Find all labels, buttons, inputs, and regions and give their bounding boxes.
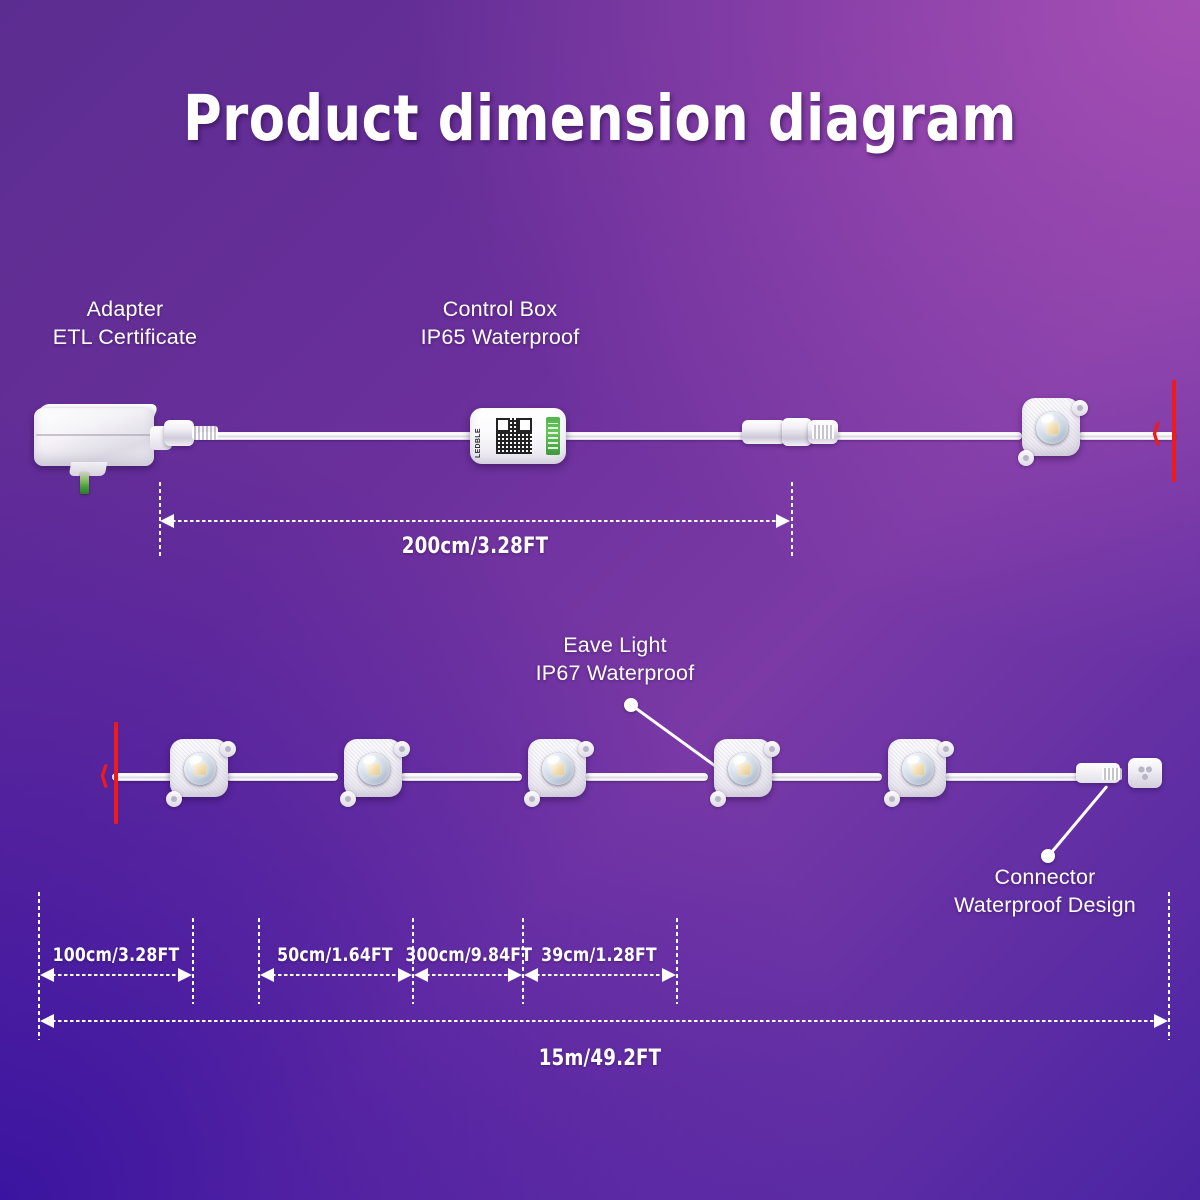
module-mount-ear-top	[578, 741, 594, 757]
module-mount-ear-bottom	[166, 791, 182, 807]
callout-adapter-line1: Adapter	[15, 296, 235, 324]
dim-line-seg4	[536, 974, 664, 976]
dim-arrow-seg4-left	[524, 968, 538, 982]
callout-eave-light: Eave Light IP67 Waterproof	[465, 632, 765, 687]
end-waterproof-plug	[1076, 758, 1176, 792]
module-led-chip	[1047, 423, 1058, 434]
module-mount-ear-bottom	[340, 791, 356, 807]
module-led-chip	[195, 764, 206, 775]
dim-label-seg3: 300cm/9.84FT	[405, 944, 528, 966]
module-mount-ear-bottom	[524, 791, 540, 807]
power-adapter	[34, 404, 174, 476]
eave-light-module	[1016, 398, 1086, 468]
cut-marker-arrow-row2: ⟨	[98, 763, 110, 789]
ext-line-seg4-right	[676, 918, 678, 1004]
dim-arrow-seg2-right	[398, 968, 412, 982]
wire-adapter-to-control-box	[196, 432, 482, 440]
qr-code-icon	[496, 418, 532, 454]
dim-label-row1: 200cm/3.28FT	[323, 534, 627, 559]
eave-light-module	[164, 739, 234, 809]
control-box-brand-label: LEDBLE	[475, 414, 485, 458]
callout-eave-light-line1: Eave Light	[465, 632, 765, 660]
module-mount-ear-top	[220, 741, 236, 757]
wire-row2-seg3	[584, 773, 708, 781]
callout-control-box: Control Box IP65 Waterproof	[390, 296, 610, 351]
callout-eave-light-line2: IP67 Waterproof	[465, 660, 765, 688]
dim-line-seg2	[272, 974, 400, 976]
callout-connector: Connector Waterproof Design	[895, 864, 1195, 919]
dim-arrow-seg2-left	[260, 968, 274, 982]
diagram-canvas: Product dimension diagram Adapter ETL Ce…	[0, 0, 1200, 1200]
ext-line-total-right	[1168, 892, 1170, 1040]
ext-line-row1-right	[791, 482, 793, 556]
dim-line-seg1	[52, 974, 180, 976]
callout-adapter-line2: ETL Certificate	[15, 324, 235, 352]
page-title: Product dimension diagram	[42, 86, 1158, 152]
dim-arrow-row1-right	[776, 514, 790, 528]
dim-arrow-row1-left	[160, 514, 174, 528]
module-mount-ear-top	[938, 741, 954, 757]
module-mount-ear-bottom	[1018, 450, 1034, 466]
callout-adapter: Adapter ETL Certificate	[15, 296, 235, 351]
wire-connector-to-module	[826, 432, 1022, 440]
dim-label-seg1: 100cm/3.28FT	[46, 944, 186, 966]
callout-control-box-line2: IP65 Waterproof	[390, 324, 610, 352]
dim-arrow-seg4-right	[662, 968, 676, 982]
eave-light-module	[338, 739, 408, 809]
callout-connector-line1: Connector	[895, 864, 1195, 892]
module-mount-ear-bottom	[884, 791, 900, 807]
module-lens	[542, 753, 574, 785]
wire-row2-seg4	[770, 773, 882, 781]
adapter-cable-ribs	[192, 426, 218, 440]
dim-arrow-total-right	[1154, 1014, 1168, 1028]
dim-arrow-seg3-right	[508, 968, 522, 982]
eave-light-module	[882, 739, 952, 809]
dim-arrow-seg3-left	[414, 968, 428, 982]
wire-row2-end	[944, 773, 1084, 781]
control-box: LEDBLE	[470, 408, 566, 464]
dim-line-seg3	[426, 974, 510, 976]
end-plug-pins	[1136, 764, 1154, 782]
dim-arrow-seg1-left	[40, 968, 54, 982]
control-box-green-marking	[546, 417, 560, 455]
eave-light-module	[708, 739, 778, 809]
cut-marker-row1	[1172, 380, 1176, 482]
module-lens	[1036, 412, 1068, 444]
dim-line-row1	[172, 520, 778, 522]
dim-arrow-total-left	[40, 1014, 54, 1028]
adapter-body	[34, 408, 154, 466]
dim-label-seg4: 39cm/1.28FT	[532, 944, 666, 966]
connector-female-half	[742, 420, 786, 444]
cut-marker-row2	[114, 722, 118, 824]
module-mount-ear-top	[1072, 400, 1088, 416]
end-plug-ribs	[1102, 768, 1122, 780]
wire-row2-seg2	[400, 773, 522, 781]
wire-control-box-to-connector	[560, 432, 760, 440]
callout-connector-line2: Waterproof Design	[895, 892, 1195, 920]
module-led-chip	[913, 764, 924, 775]
module-lens	[902, 753, 934, 785]
callout-control-box-line1: Control Box	[390, 296, 610, 324]
ext-line-seg2-left	[258, 918, 260, 1004]
module-lens	[184, 753, 216, 785]
wire-row2-seg1	[226, 773, 338, 781]
cut-marker-arrow-row1: ⟨	[1150, 421, 1162, 447]
dim-label-seg2: 50cm/1.64FT	[268, 944, 402, 966]
leader-line-connector	[1047, 785, 1108, 857]
module-lens	[358, 753, 390, 785]
module-mount-ear-bottom	[710, 791, 726, 807]
module-led-chip	[369, 764, 380, 775]
module-lens	[728, 753, 760, 785]
connector-ribs-right	[812, 425, 834, 439]
inline-waterproof-connector	[742, 420, 838, 446]
dim-label-total: 15m/49.2FT	[453, 1046, 747, 1071]
dim-line-total	[52, 1020, 1156, 1022]
adapter-barrel-connector	[164, 420, 194, 446]
adapter-seam	[36, 434, 152, 436]
module-mount-ear-top	[764, 741, 780, 757]
eave-light-module	[522, 739, 592, 809]
module-mount-ear-top	[394, 741, 410, 757]
ext-line-seg1-right	[192, 918, 194, 1004]
module-led-chip	[739, 764, 750, 775]
adapter-green-prong	[80, 472, 89, 494]
module-led-chip	[553, 764, 564, 775]
dim-arrow-seg1-right	[178, 968, 192, 982]
